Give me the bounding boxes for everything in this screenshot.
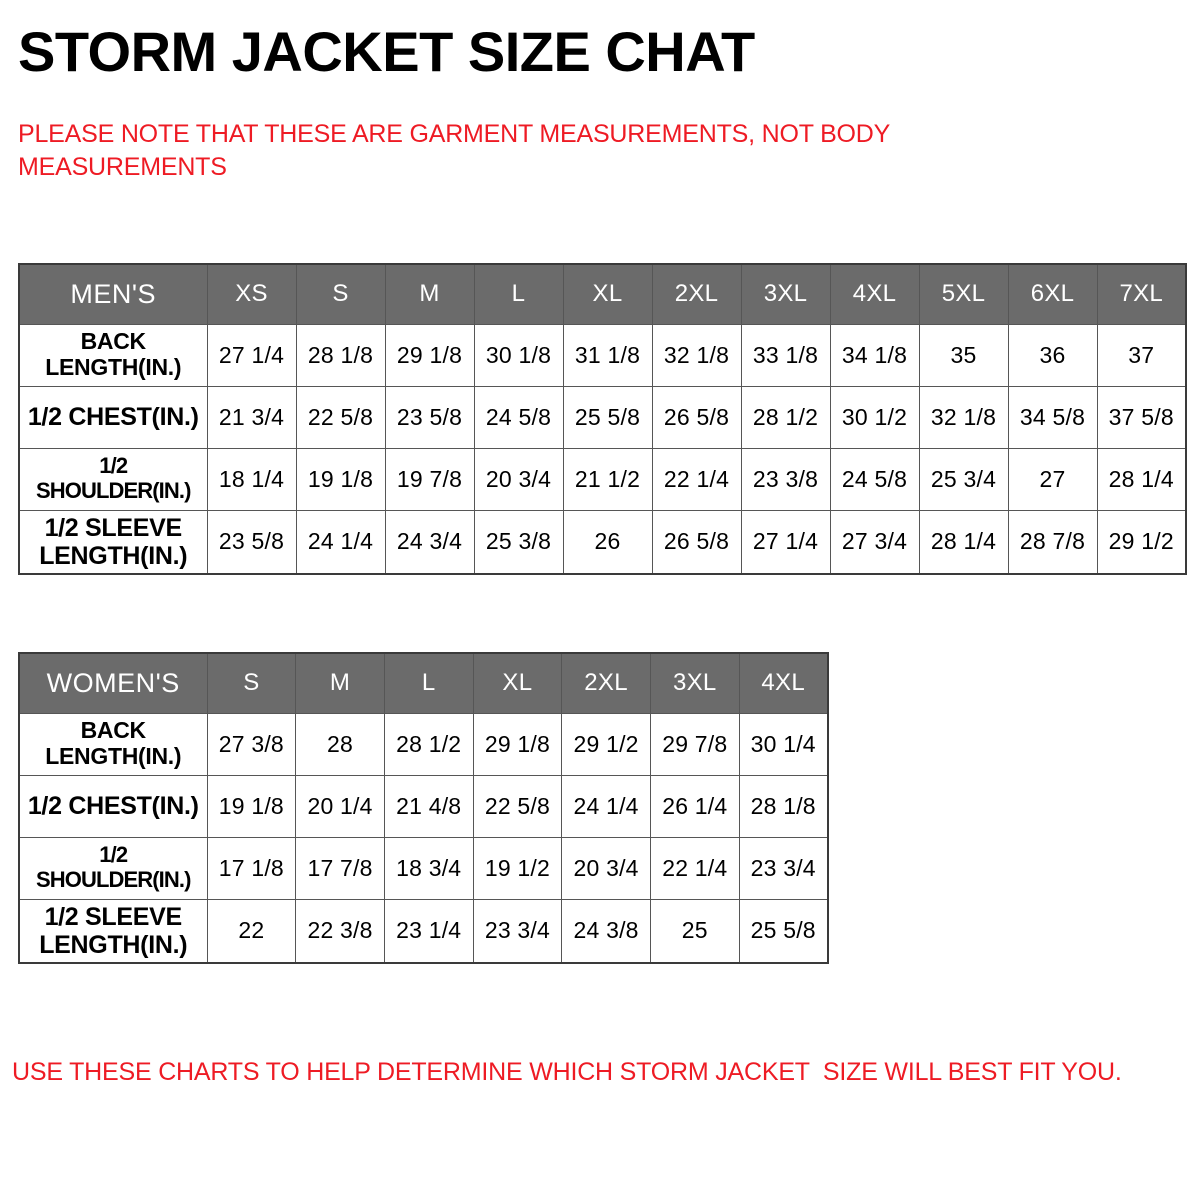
mens-half-shoulder-4xl: 24 5/8 [830, 448, 919, 510]
mens-category-header: MEN'S [19, 264, 207, 324]
womens-back-length-4xl: 30 1/4 [739, 713, 828, 775]
womens-half-shoulder-m: 17 7/8 [296, 837, 385, 899]
mens-half-chest-6xl: 34 5/8 [1008, 386, 1097, 448]
womens-row-label-half-shoulder: 1/2 SHOULDER(IN.) [19, 837, 207, 899]
mens-half-shoulder-5xl: 25 3/4 [919, 448, 1008, 510]
mens-back-length-xl: 31 1/8 [563, 324, 652, 386]
womens-half-chest-2xl: 24 1/4 [562, 775, 651, 837]
mens-row-label-back-length: BACK LENGTH(IN.) [19, 324, 207, 386]
mens-half-chest-7xl: 37 5/8 [1097, 386, 1186, 448]
womens-half-chest-4xl: 28 1/8 [739, 775, 828, 837]
womens-half-sleeve-s: 22 [207, 899, 296, 963]
mens-half-chest-l: 24 5/8 [474, 386, 563, 448]
womens-size-header-m: M [296, 653, 385, 713]
mens-half-shoulder-7xl: 28 1/4 [1097, 448, 1186, 510]
mens-half-chest-2xl: 26 5/8 [652, 386, 741, 448]
mens-back-length-m: 29 1/8 [385, 324, 474, 386]
womens-row-label-back-length: BACK LENGTH(IN.) [19, 713, 207, 775]
table-row: BACK LENGTH(IN.) 27 3/8 28 28 1/2 29 1/8… [19, 713, 828, 775]
mens-half-sleeve-6xl: 28 7/8 [1008, 510, 1097, 574]
mens-row-label-half-sleeve-length: 1/2 SLEEVE LENGTH(IN.) [19, 510, 207, 574]
mens-half-chest-xl: 25 5/8 [563, 386, 652, 448]
mens-half-chest-s: 22 5/8 [296, 386, 385, 448]
mens-size-table: MEN'S XS S M L XL 2XL 3XL 4XL 5XL 6XL 7X… [18, 263, 1187, 575]
mens-back-length-s: 28 1/8 [296, 324, 385, 386]
womens-half-shoulder-4xl: 23 3/4 [739, 837, 828, 899]
mens-half-chest-m: 23 5/8 [385, 386, 474, 448]
mens-size-header-3xl: 3XL [741, 264, 830, 324]
mens-size-header-m: M [385, 264, 474, 324]
womens-back-length-3xl: 29 7/8 [650, 713, 739, 775]
womens-header-row: WOMEN'S S M L XL 2XL 3XL 4XL [19, 653, 828, 713]
womens-half-sleeve-xl: 23 3/4 [473, 899, 562, 963]
mens-table-header: MEN'S XS S M L XL 2XL 3XL 4XL 5XL 6XL 7X… [19, 264, 1186, 324]
mens-size-header-xl: XL [563, 264, 652, 324]
womens-half-sleeve-m: 22 3/8 [296, 899, 385, 963]
mens-half-shoulder-xl: 21 1/2 [563, 448, 652, 510]
womens-half-chest-s: 19 1/8 [207, 775, 296, 837]
womens-category-header: WOMEN'S [19, 653, 207, 713]
mens-half-sleeve-7xl: 29 1/2 [1097, 510, 1186, 574]
mens-back-length-5xl: 35 [919, 324, 1008, 386]
garment-measurement-note: PLEASE NOTE THAT THESE ARE GARMENT MEASU… [18, 118, 978, 184]
page-title: STORM JACKET SIZE CHAT [18, 24, 755, 80]
mens-half-sleeve-s: 24 1/4 [296, 510, 385, 574]
womens-half-chest-l: 21 4/8 [384, 775, 473, 837]
womens-size-header-xl: XL [473, 653, 562, 713]
mens-half-shoulder-m: 19 7/8 [385, 448, 474, 510]
womens-back-length-xl: 29 1/8 [473, 713, 562, 775]
womens-half-shoulder-3xl: 22 1/4 [650, 837, 739, 899]
womens-size-header-l: L [384, 653, 473, 713]
mens-half-shoulder-l: 20 3/4 [474, 448, 563, 510]
table-row: BACK LENGTH(IN.) 27 1/4 28 1/8 29 1/8 30… [19, 324, 1186, 386]
mens-half-chest-xs: 21 3/4 [207, 386, 296, 448]
table-row: 1/2 SLEEVE LENGTH(IN.) 23 5/8 24 1/4 24 … [19, 510, 1186, 574]
womens-half-shoulder-2xl: 20 3/4 [562, 837, 651, 899]
womens-back-length-l: 28 1/2 [384, 713, 473, 775]
womens-half-shoulder-l: 18 3/4 [384, 837, 473, 899]
mens-half-sleeve-m: 24 3/4 [385, 510, 474, 574]
womens-size-header-4xl: 4XL [739, 653, 828, 713]
mens-back-length-l: 30 1/8 [474, 324, 563, 386]
mens-size-header-xs: XS [207, 264, 296, 324]
mens-half-sleeve-xl: 26 [563, 510, 652, 574]
womens-size-header-2xl: 2XL [562, 653, 651, 713]
size-help-footer: USE THESE CHARTS TO HELP DETERMINE WHICH… [12, 1058, 1172, 1087]
womens-size-table: WOMEN'S S M L XL 2XL 3XL 4XL BACK LENGTH… [18, 652, 829, 964]
mens-size-header-s: S [296, 264, 385, 324]
mens-half-sleeve-5xl: 28 1/4 [919, 510, 1008, 574]
womens-half-sleeve-l: 23 1/4 [384, 899, 473, 963]
womens-size-header-3xl: 3XL [650, 653, 739, 713]
womens-half-sleeve-2xl: 24 3/8 [562, 899, 651, 963]
womens-half-sleeve-3xl: 25 [650, 899, 739, 963]
mens-size-header-7xl: 7XL [1097, 264, 1186, 324]
mens-half-chest-3xl: 28 1/2 [741, 386, 830, 448]
womens-size-header-s: S [207, 653, 296, 713]
womens-half-chest-xl: 22 5/8 [473, 775, 562, 837]
mens-row-label-half-chest: 1/2 CHEST(IN.) [19, 386, 207, 448]
table-row: 1/2 SHOULDER(IN.) 18 1/4 19 1/8 19 7/8 2… [19, 448, 1186, 510]
mens-half-sleeve-l: 25 3/8 [474, 510, 563, 574]
womens-half-sleeve-4xl: 25 5/8 [739, 899, 828, 963]
mens-back-length-7xl: 37 [1097, 324, 1186, 386]
womens-row-label-half-chest: 1/2 CHEST(IN.) [19, 775, 207, 837]
mens-half-chest-4xl: 30 1/2 [830, 386, 919, 448]
mens-size-header-5xl: 5XL [919, 264, 1008, 324]
womens-table-body: BACK LENGTH(IN.) 27 3/8 28 28 1/2 29 1/8… [19, 713, 828, 963]
mens-size-header-2xl: 2XL [652, 264, 741, 324]
mens-header-row: MEN'S XS S M L XL 2XL 3XL 4XL 5XL 6XL 7X… [19, 264, 1186, 324]
mens-size-header-4xl: 4XL [830, 264, 919, 324]
table-row: 1/2 SHOULDER(IN.) 17 1/8 17 7/8 18 3/4 1… [19, 837, 828, 899]
mens-half-sleeve-3xl: 27 1/4 [741, 510, 830, 574]
womens-half-chest-3xl: 26 1/4 [650, 775, 739, 837]
mens-half-chest-5xl: 32 1/8 [919, 386, 1008, 448]
mens-back-length-3xl: 33 1/8 [741, 324, 830, 386]
mens-back-length-4xl: 34 1/8 [830, 324, 919, 386]
mens-half-shoulder-3xl: 23 3/8 [741, 448, 830, 510]
womens-half-shoulder-xl: 19 1/2 [473, 837, 562, 899]
mens-size-header-l: L [474, 264, 563, 324]
womens-row-label-half-sleeve-length: 1/2 SLEEVE LENGTH(IN.) [19, 899, 207, 963]
mens-half-sleeve-4xl: 27 3/4 [830, 510, 919, 574]
womens-table-header: WOMEN'S S M L XL 2XL 3XL 4XL [19, 653, 828, 713]
mens-row-label-half-shoulder: 1/2 SHOULDER(IN.) [19, 448, 207, 510]
mens-table-body: BACK LENGTH(IN.) 27 1/4 28 1/8 29 1/8 30… [19, 324, 1186, 574]
womens-back-length-2xl: 29 1/2 [562, 713, 651, 775]
womens-back-length-s: 27 3/8 [207, 713, 296, 775]
size-chart-page: STORM JACKET SIZE CHAT PLEASE NOTE THAT … [0, 0, 1200, 1200]
table-row: 1/2 CHEST(IN.) 19 1/8 20 1/4 21 4/8 22 5… [19, 775, 828, 837]
mens-half-shoulder-xs: 18 1/4 [207, 448, 296, 510]
mens-half-sleeve-xs: 23 5/8 [207, 510, 296, 574]
mens-back-length-2xl: 32 1/8 [652, 324, 741, 386]
mens-half-shoulder-s: 19 1/8 [296, 448, 385, 510]
mens-back-length-xs: 27 1/4 [207, 324, 296, 386]
womens-half-chest-m: 20 1/4 [296, 775, 385, 837]
mens-half-shoulder-2xl: 22 1/4 [652, 448, 741, 510]
table-row: 1/2 CHEST(IN.) 21 3/4 22 5/8 23 5/8 24 5… [19, 386, 1186, 448]
mens-half-sleeve-2xl: 26 5/8 [652, 510, 741, 574]
mens-half-shoulder-6xl: 27 [1008, 448, 1097, 510]
mens-size-header-6xl: 6XL [1008, 264, 1097, 324]
womens-half-shoulder-s: 17 1/8 [207, 837, 296, 899]
womens-back-length-m: 28 [296, 713, 385, 775]
mens-back-length-6xl: 36 [1008, 324, 1097, 386]
table-row: 1/2 SLEEVE LENGTH(IN.) 22 22 3/8 23 1/4 … [19, 899, 828, 963]
